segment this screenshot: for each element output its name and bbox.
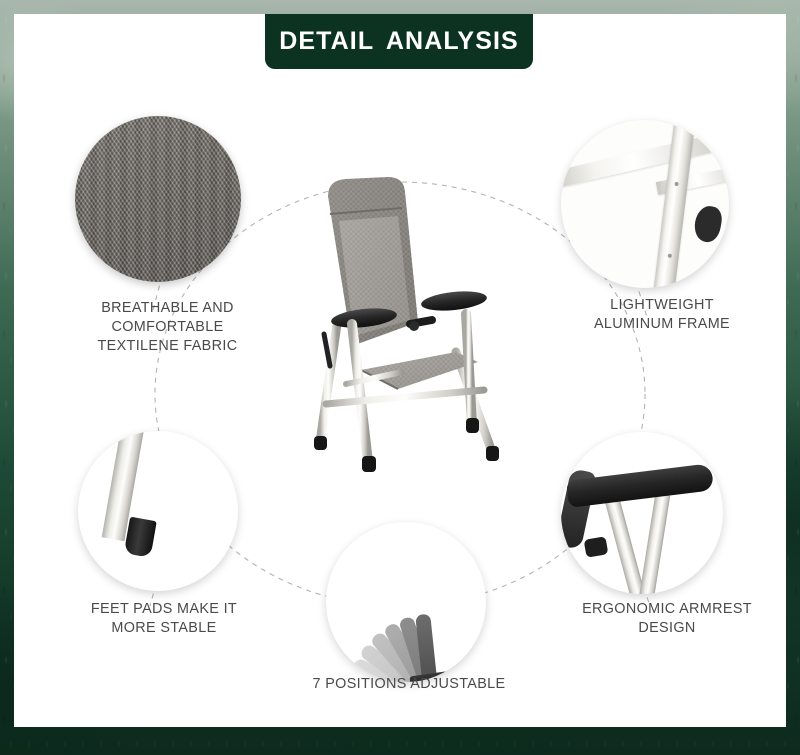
chair-foot-cap-4: [486, 446, 499, 461]
detail-circle-positions: [326, 522, 486, 682]
chair-back-strut: [324, 334, 330, 366]
rivet-icon: [668, 254, 672, 258]
infographic-page: DETAIL ANALYSIS: [0, 0, 800, 755]
armrest-support-leg-left: [603, 492, 645, 594]
detail-circle-fabric: [75, 116, 241, 282]
chair-rear-leg-left: [320, 324, 337, 442]
chair-cross-brace: [326, 390, 484, 404]
detail-circle-armrest: [561, 432, 723, 594]
feature-label-feet: FEET PADS MAKE IT MORE STABLE: [54, 600, 274, 638]
feature-label-positions: 7 POSITIONS ADJUSTABLE: [284, 675, 534, 694]
product-chair-image: [306, 174, 531, 484]
chair-recline-pivot: [409, 321, 419, 331]
chair-foot-cap-2: [362, 456, 376, 472]
armrest-joint: [584, 536, 609, 558]
detail-circle-feet-pads: [78, 431, 238, 591]
chair-foot-cap-3: [466, 418, 479, 433]
page-title: DETAIL ANALYSIS: [279, 27, 519, 56]
chair-armrest-right: [420, 289, 488, 314]
feature-label-fabric: BREATHABLE AND COMFORTABLE TEXTILENE FAB…: [60, 299, 275, 356]
title-banner: DETAIL ANALYSIS: [265, 14, 533, 69]
aluminum-tube-vertical: [654, 120, 698, 288]
armrest-pad: [566, 463, 714, 508]
content-panel: DETAIL ANALYSIS: [14, 14, 786, 727]
chair-foot-cap-1: [314, 436, 327, 450]
feature-label-frame: LIGHTWEIGHT ALUMINUM FRAME: [562, 296, 762, 334]
rubber-foot-pad: [124, 517, 157, 558]
detail-circle-aluminum-frame: [561, 120, 729, 288]
frame-dark-fitting: [692, 204, 724, 244]
armrest-support-leg-right: [639, 493, 670, 594]
feature-label-armrest: ERGONOMIC ARMREST DESIGN: [562, 600, 772, 638]
rivet-icon: [674, 182, 678, 186]
chair-front-leg-left: [352, 324, 368, 462]
chair-front-leg-right: [466, 314, 472, 424]
